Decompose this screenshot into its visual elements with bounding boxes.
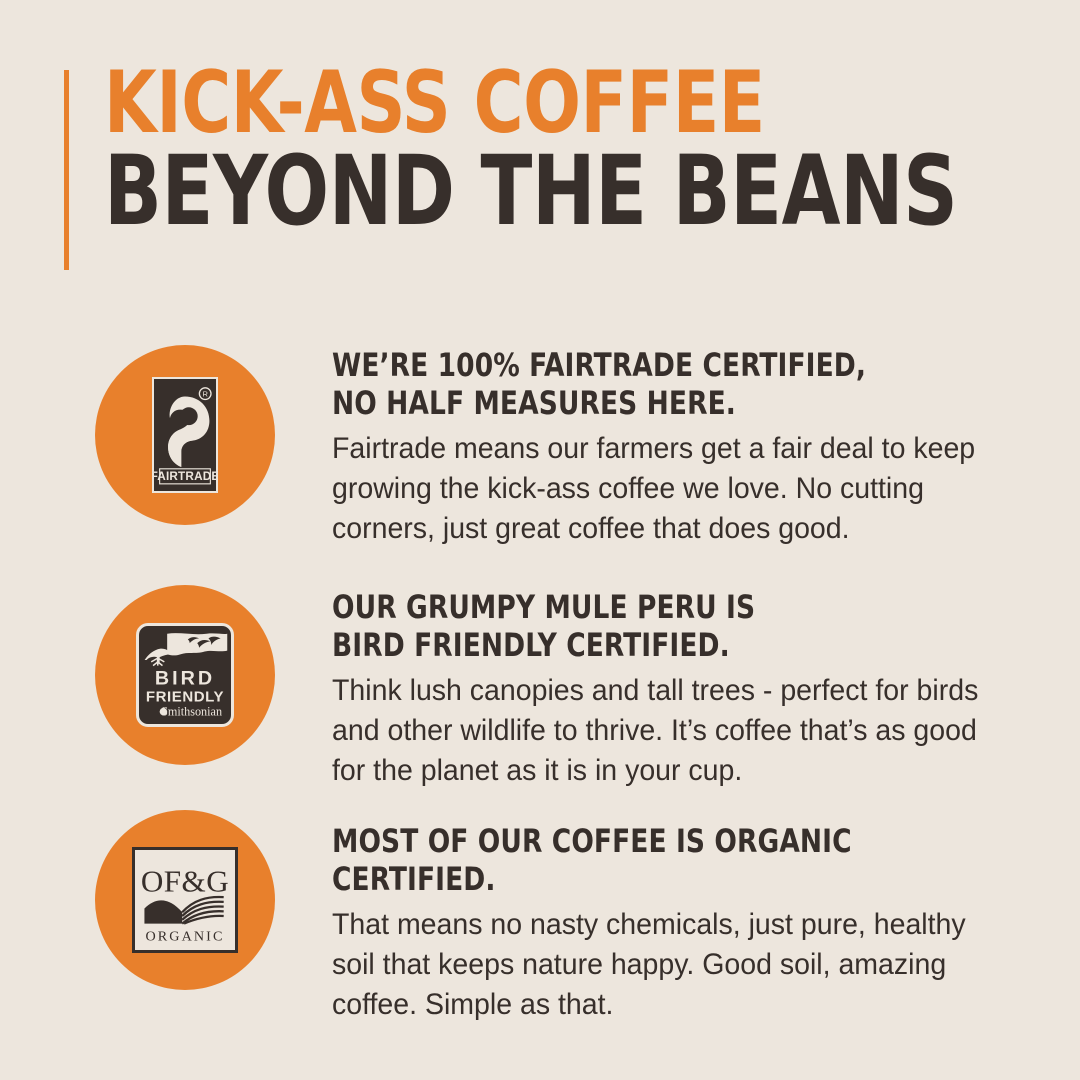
ofg-wordmark-line2: ORGANIC xyxy=(146,929,225,945)
bird-wordmark-line1: BIRD xyxy=(155,667,215,689)
svg-text:R: R xyxy=(202,389,208,398)
text-column: WE’RE 100% FAIRTRADE CERTIFIED, NO HALF … xyxy=(332,300,1080,548)
ofg-organic-icon: OF&G ORGANIC xyxy=(132,847,238,953)
page-header: KICK-ASS COFFEE BEYOND THE BEANS xyxy=(0,0,1080,300)
certification-list: R FAIRTRADE WE’RE 100% FAIRTRADE CERTIFI… xyxy=(0,300,1080,1020)
title-line-primary: KICK-ASS COFFEE xyxy=(104,64,931,143)
text-column: OUR GRUMPY MULE PERU IS BIRD FRIENDLY CE… xyxy=(332,540,1080,790)
page-title: KICK-ASS COFFEE BEYOND THE BEANS xyxy=(104,64,1044,235)
fairtrade-icon: R FAIRTRADE xyxy=(152,377,218,493)
orange-accent-bar xyxy=(64,70,69,270)
text-column: MOST OF OUR COFFEE IS ORGANIC CERTIFIED.… xyxy=(332,780,1080,1024)
fairtrade-wordmark: FAIRTRADE xyxy=(154,470,216,483)
list-item: R FAIRTRADE WE’RE 100% FAIRTRADE CERTIFI… xyxy=(0,300,1080,540)
ofg-wordmark-line1: OF&G xyxy=(141,864,229,899)
badge-column: R FAIRTRADE xyxy=(0,300,332,525)
ofg-badge-circle: OF&G ORGANIC xyxy=(95,810,275,990)
section-body: That means no nasty chemicals, just pure… xyxy=(332,905,997,1025)
badge-column: OF&G ORGANIC xyxy=(0,780,332,990)
badge-column: BIRD FRIENDLY Smithsonian xyxy=(0,540,332,765)
section-heading: WE’RE 100% FAIRTRADE CERTIFIED, NO HALF … xyxy=(332,346,983,423)
list-item: BIRD FRIENDLY Smithsonian OUR GRUMPY MUL… xyxy=(0,540,1080,780)
bird-friendly-badge-circle: BIRD FRIENDLY Smithsonian xyxy=(95,585,275,765)
section-heading: OUR GRUMPY MULE PERU IS BIRD FRIENDLY CE… xyxy=(332,588,983,665)
smithsonian-wordmark: Smithsonian xyxy=(161,704,222,718)
section-body: Think lush canopies and tall trees - per… xyxy=(332,671,997,791)
bird-friendly-icon: BIRD FRIENDLY Smithsonian xyxy=(136,623,234,727)
section-heading: MOST OF OUR COFFEE IS ORGANIC CERTIFIED. xyxy=(332,822,983,899)
fairtrade-badge-circle: R FAIRTRADE xyxy=(95,345,275,525)
list-item: OF&G ORGANIC MOST OF OUR COFFEE IS ORGAN… xyxy=(0,780,1080,1020)
bird-wordmark-line2: FRIENDLY xyxy=(146,688,224,705)
title-line-secondary: BEYOND THE BEANS xyxy=(104,147,931,235)
section-body: Fairtrade means our farmers get a fair d… xyxy=(332,429,997,549)
